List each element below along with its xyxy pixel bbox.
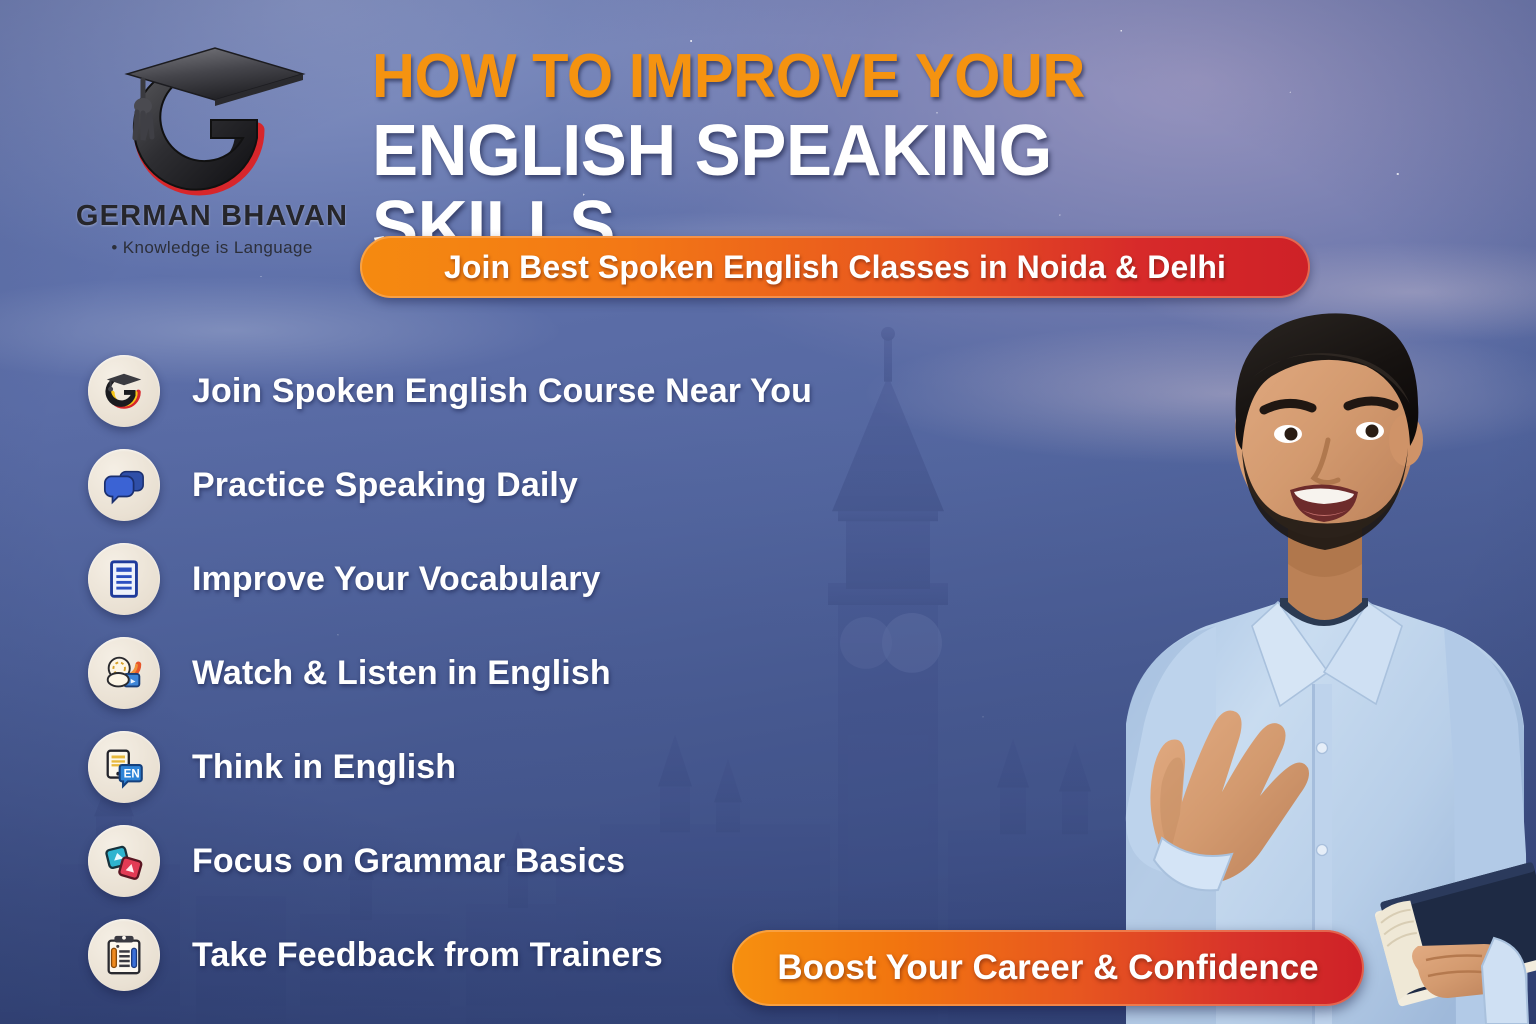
presenter-photo bbox=[1066, 254, 1536, 1024]
list-item[interactable]: Improve Your Vocabulary bbox=[88, 532, 888, 626]
brand-name: GERMAN BHAVAN bbox=[62, 200, 362, 233]
headline-block: HOW TO IMPROVE YOUR ENGLISH SPEAKING SKI… bbox=[372, 46, 1332, 265]
list-item-label: Watch & Listen in English bbox=[192, 654, 611, 693]
list-item-label: Think in English bbox=[192, 748, 456, 787]
list-item[interactable]: Focus on Grammar Basics bbox=[88, 814, 888, 908]
list-item-label: Join Spoken English Course Near You bbox=[192, 372, 812, 411]
benefits-list: Join Spoken English Course Near You Prac… bbox=[88, 344, 888, 1002]
list-item-label: Take Feedback from Trainers bbox=[192, 936, 663, 975]
cta-button-label: Boost Your Career & Confidence bbox=[777, 948, 1318, 988]
graduation-cap-logo-icon bbox=[88, 355, 160, 427]
list-item[interactable]: Join Spoken English Course Near You bbox=[88, 344, 888, 438]
graduation-cap-g-logo-icon bbox=[107, 34, 317, 204]
flash-cards-icon bbox=[88, 825, 160, 897]
promo-poster: GERMAN BHAVAN • Knowledge is Language HO… bbox=[0, 0, 1536, 1024]
device-en-bubble-icon: EN bbox=[88, 731, 160, 803]
clipboard-feedback-icon bbox=[88, 919, 160, 991]
speech-bubbles-icon bbox=[88, 449, 160, 521]
list-item-label: Practice Speaking Daily bbox=[192, 466, 578, 505]
svg-text:EN: EN bbox=[124, 769, 140, 781]
list-item[interactable]: Watch & Listen in English bbox=[88, 626, 888, 720]
list-item[interactable]: Practice Speaking Daily bbox=[88, 438, 888, 532]
list-item[interactable]: EN Think in English bbox=[88, 720, 888, 814]
list-item-label: Focus on Grammar Basics bbox=[192, 842, 625, 881]
headline-line-1: HOW TO IMPROVE YOUR bbox=[372, 46, 1294, 108]
brand-logo: GERMAN BHAVAN • Knowledge is Language bbox=[62, 34, 362, 258]
cta-button[interactable]: Boost Your Career & Confidence bbox=[732, 930, 1364, 1006]
brand-tagline: • Knowledge is Language bbox=[62, 238, 362, 258]
headphones-media-icon bbox=[88, 637, 160, 709]
document-lines-icon bbox=[88, 543, 160, 615]
list-item-label: Improve Your Vocabulary bbox=[192, 560, 601, 599]
